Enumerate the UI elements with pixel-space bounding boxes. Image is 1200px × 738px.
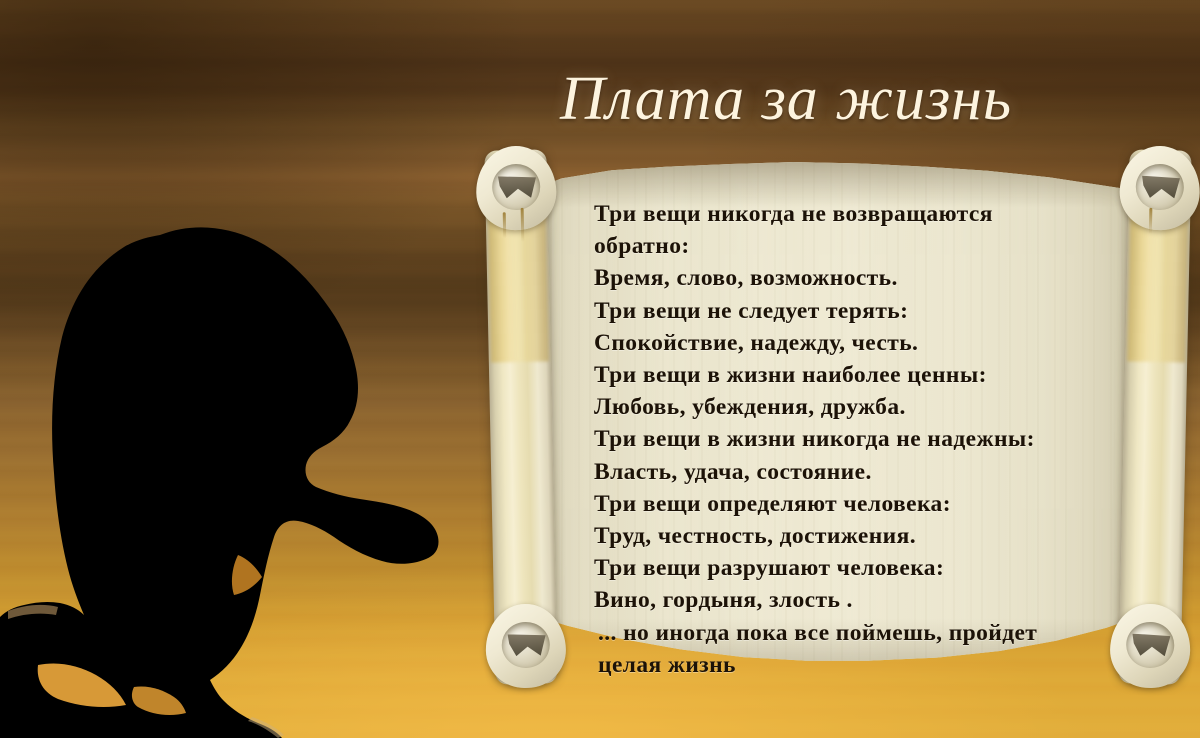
roller-cap-bottom-left <box>485 603 567 689</box>
scroll-inscription: Три вещи никогда не возвращаются обратно… <box>594 198 1102 681</box>
scroll-line: обратно: <box>594 230 1102 262</box>
page-title: Плата за жизнь <box>560 68 1180 130</box>
roller-cap-top-left <box>475 145 557 231</box>
scroll-line: Три вещи никогда не возвращаются <box>594 198 1102 230</box>
roller-gold-band-left <box>488 211 549 362</box>
roller-cap-bottom-right <box>1109 603 1191 689</box>
scroll-line: Время, слово, возможность. <box>594 262 1102 294</box>
scroll-line: ... но иногда пока все поймешь, пройдет <box>594 617 1102 649</box>
poster-canvas: Плата за жизнь <box>0 0 1200 738</box>
scroll-line: Спокойствие, надежду, честь. <box>594 327 1102 359</box>
roller-cap-drip <box>1149 208 1153 234</box>
scroll-roller-left <box>484 149 557 684</box>
scroll-line: Три вещи в жизни никогда не надежны: <box>594 423 1102 455</box>
scroll-roller-right <box>1118 149 1191 684</box>
scroll-line: Любовь, убеждения, дружба. <box>594 391 1102 423</box>
scroll-line: Три вещи определяют человека: <box>594 488 1102 520</box>
scroll-line: Три вещи в жизни наиболее ценны: <box>594 359 1102 391</box>
scroll-line: Три вещи разрушают человека: <box>594 552 1102 584</box>
scroll-line: Вино, гордыня, злость . <box>594 584 1102 616</box>
roller-cap-top-right <box>1119 145 1200 231</box>
roller-cap-drip <box>503 212 507 238</box>
scroll-line: Три вещи не следует терять: <box>594 295 1102 327</box>
scroll-graphic: Три вещи никогда не возвращаются обратно… <box>484 150 1190 690</box>
scroll-line: Власть, удача, состояние. <box>594 456 1102 488</box>
scroll-line: Труд, честность, достижения. <box>594 520 1102 552</box>
scroll-line: целая жизнь <box>594 649 1102 681</box>
roller-gold-band-right <box>1127 211 1188 362</box>
